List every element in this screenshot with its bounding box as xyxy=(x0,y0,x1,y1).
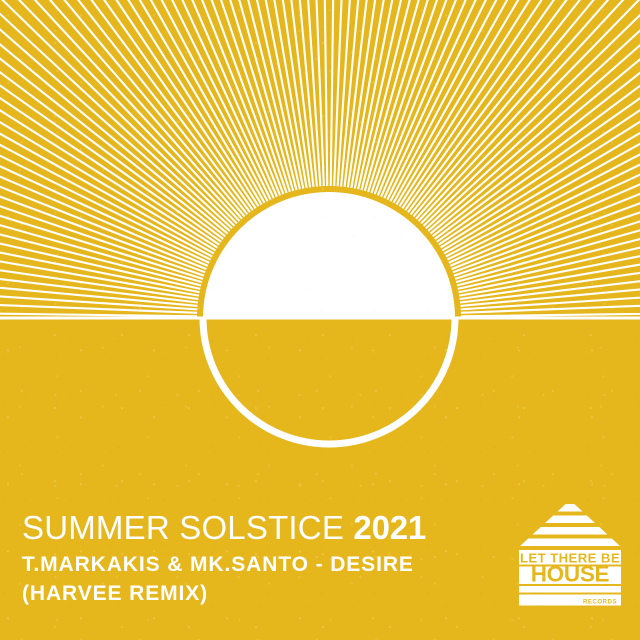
logo-band-let-there-be xyxy=(519,550,621,565)
sun-upper-half xyxy=(203,192,455,318)
track-remix-line: (HARVEE REMIX) xyxy=(22,580,426,607)
logo-band-records xyxy=(519,595,621,606)
cover-text-block: SUMMER SOLSTICE 2021 T.MARKAKIS & MK.SAN… xyxy=(22,508,426,607)
sun-lower-half-outline xyxy=(203,318,455,444)
track-artists-line: T.MARKAKIS & MK.SANTO - DESIRE xyxy=(22,551,426,578)
album-title-year: 2021 xyxy=(353,509,426,546)
logo-band-house xyxy=(519,567,621,585)
album-title: SUMMER SOLSTICE 2021 xyxy=(22,508,426,548)
album-cover: SUMMER SOLSTICE 2021 T.MARKAKIS & MK.SAN… xyxy=(0,0,640,640)
album-title-main: SUMMER SOLSTICE xyxy=(22,509,344,546)
record-label-logo[interactable]: LET THERE BE HOUSE RECORDS xyxy=(519,500,621,606)
logo-house-shape xyxy=(519,504,621,606)
